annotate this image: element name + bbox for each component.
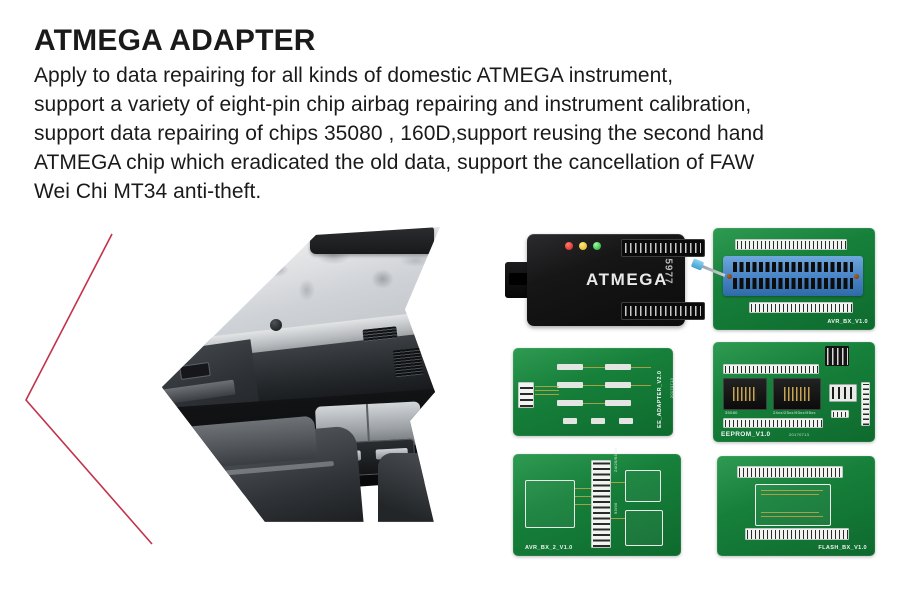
led-yellow-icon xyxy=(579,242,587,250)
flash-bx-header-bottom xyxy=(745,528,849,540)
avr-bx-2-dip-socket xyxy=(591,460,611,548)
description-line-1: Apply to data repairing for all kinds of… xyxy=(34,62,734,91)
avr-bx-2-footprint-left xyxy=(525,480,575,528)
avr-bx-2-footprint-tr xyxy=(625,470,661,502)
atmega-device: ATMEGA 5977 xyxy=(505,234,685,326)
zif-pin-row-bottom xyxy=(733,278,853,288)
product-description: Apply to data repairing for all kinds of… xyxy=(34,62,734,207)
eeprom-pin-header xyxy=(825,346,849,366)
board-eeprom: 35080 24xx/25xx/93xx/95xx EEPROM_V1.0 20… xyxy=(713,342,875,442)
description-line-4: ATMEGA chip which eradicated the old dat… xyxy=(34,149,734,178)
led-green-icon xyxy=(593,242,601,250)
zif-pin-row-top xyxy=(733,262,853,272)
eeprom-header-top xyxy=(723,364,819,374)
socket-label-24xx: 24xx/25xx/93xx/95xx xyxy=(773,410,816,415)
board-label-avr-bx-2: AVR_BX_2_V1.0 xyxy=(525,545,573,551)
description-line-3: support data repairing of chips 35080 , … xyxy=(34,120,734,149)
header-connector-bottom xyxy=(621,302,705,320)
eeprom-jumper xyxy=(831,410,849,418)
zif-screw-left xyxy=(727,274,732,279)
socket-24xx xyxy=(773,378,821,410)
photo-area xyxy=(20,222,470,572)
avr-bx-header-top xyxy=(735,239,847,250)
product-info-page: ATMEGA ADAPTER Apply to data repairing f… xyxy=(0,0,900,600)
board-label-flash-bx: FLASH_BX_V1.0 xyxy=(818,545,867,551)
board-sublabel-ee-adapter: 20170713 xyxy=(669,378,674,398)
board-sublabel-eeprom: 20170713 xyxy=(789,432,809,437)
dip8-socket xyxy=(829,384,857,402)
zif-screw-right xyxy=(854,274,859,279)
page-title: ATMEGA ADAPTER xyxy=(34,26,734,56)
avr-bx-2-footprint-br xyxy=(625,510,663,546)
led-red-icon xyxy=(565,242,573,250)
avr-bx-2-socket-label-1: 24/25/93/95 xyxy=(613,448,618,472)
board-ee-adapter: EE_ADAPTER_V2.0 20170713 xyxy=(513,348,673,436)
dash-knob xyxy=(270,319,282,331)
socket-35080 xyxy=(723,378,767,410)
air-vent-side xyxy=(392,348,423,378)
socket-label-35080: 35080 xyxy=(725,410,738,415)
device-body: ATMEGA 5977 xyxy=(527,234,685,326)
product-gallery: ATMEGA 5977 AVR_BX_V1.0 xyxy=(485,220,890,580)
text-block: ATMEGA ADAPTER Apply to data repairing f… xyxy=(34,26,734,207)
avr-bx-header-bottom xyxy=(749,302,853,313)
board-avr-bx: AVR_BX_V1.0 xyxy=(713,228,875,330)
flash-bx-header-top xyxy=(737,466,843,478)
board-label-eeprom: EEPROM_V1.0 xyxy=(721,431,771,438)
eeprom-header-bottom xyxy=(723,418,823,428)
avr-bx-2-socket-label-0: 93/95 xyxy=(613,502,618,514)
description-line-5: Wei Chi MT34 anti-theft. xyxy=(34,178,734,207)
description-line-2: support a variety of eight-pin chip airb… xyxy=(34,91,734,120)
eeprom-side-header xyxy=(861,382,870,426)
board-label-ee-adapter: EE_ADAPTER_V2.0 xyxy=(657,371,663,428)
zif-lever[interactable] xyxy=(700,265,725,277)
board-flash-bx: FLASH_BX_V1.0 xyxy=(717,456,875,556)
board-label-avr-bx: AVR_BX_V1.0 xyxy=(827,319,868,325)
board-avr-bx-2: 24/25/93/95 93/95 AVR_BX_2_V1.0 xyxy=(513,454,681,556)
ee-adapter-connector xyxy=(518,382,534,408)
device-code: 5977 xyxy=(662,258,673,284)
header-connector-top xyxy=(621,239,705,257)
zif-socket xyxy=(723,256,863,296)
